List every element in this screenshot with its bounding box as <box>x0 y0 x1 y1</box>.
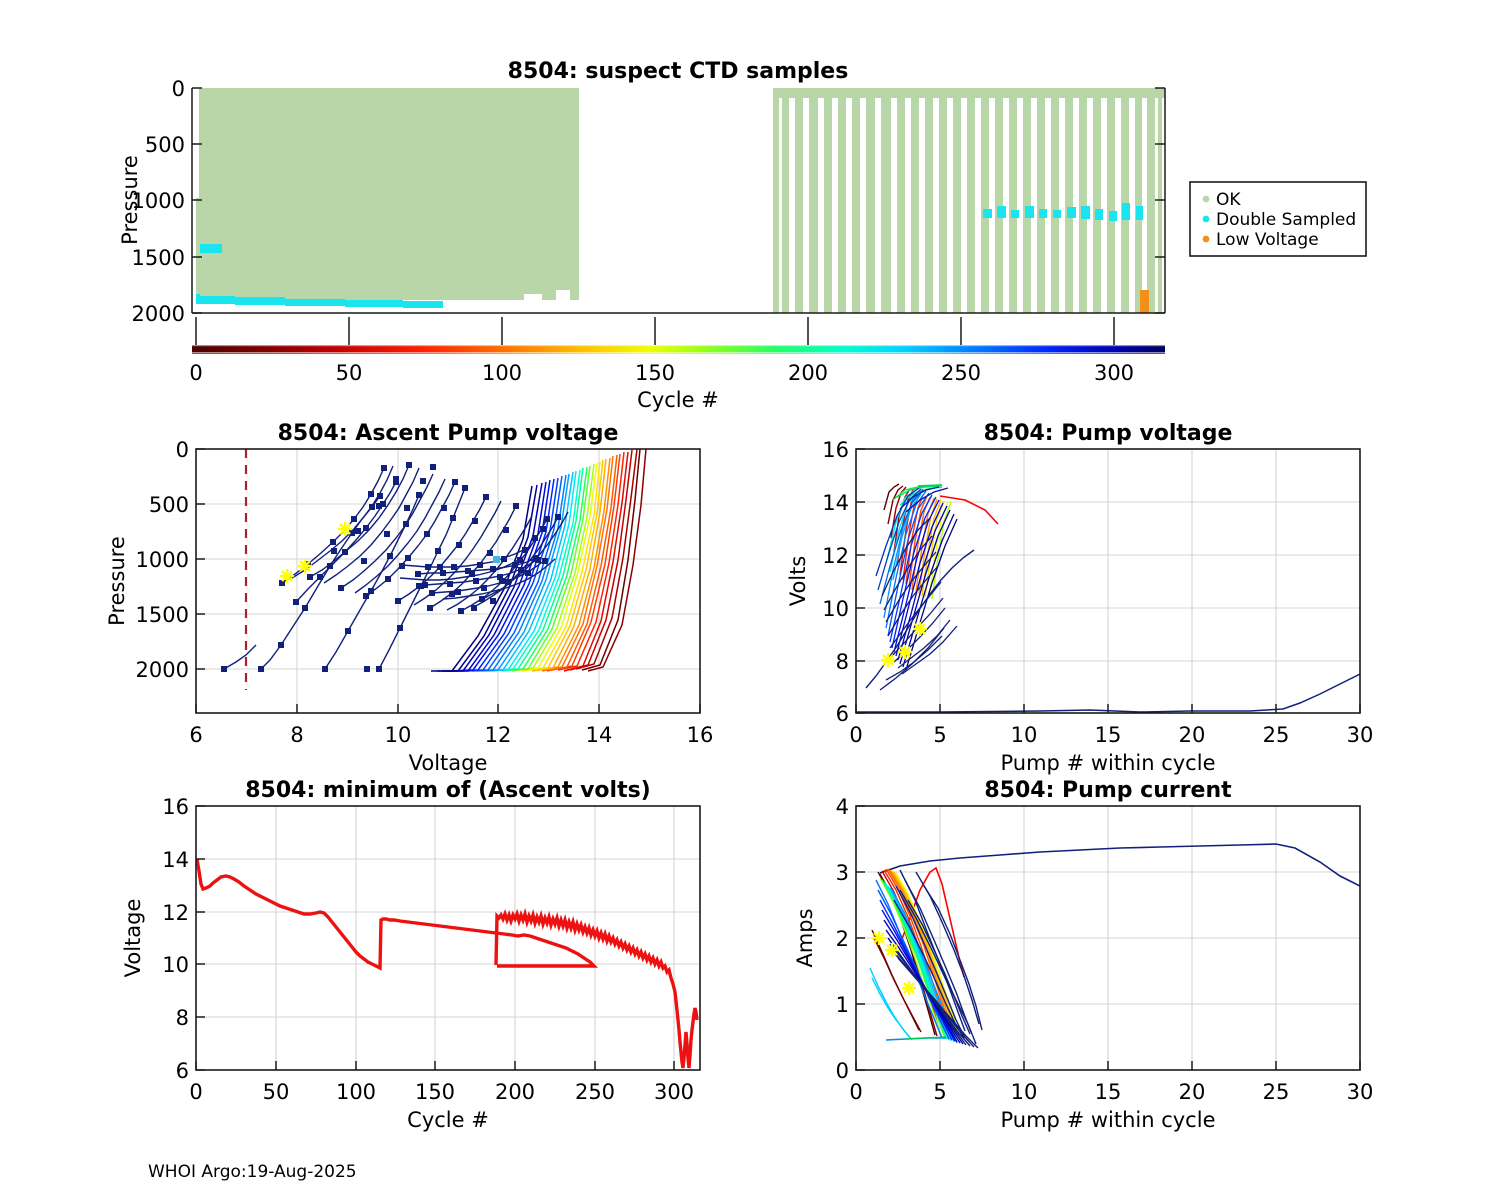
ctd-xtick-0: 0 <box>189 361 202 385</box>
legend-label-double-sampled: Double Sampled <box>1216 210 1356 230</box>
ascent-x-ticks: 6 8 10 12 14 16 <box>189 704 713 747</box>
pumpv-ytick-12: 12 <box>822 544 849 568</box>
pumpc-xtick-5: 5 <box>933 1080 946 1104</box>
footer-credit: WHOI Argo:19-Aug-2025 <box>148 1162 357 1182</box>
legend-swatch-low-voltage <box>1203 236 1210 243</box>
pumpv-star-2 <box>898 645 912 659</box>
ascent-xtick-16: 16 <box>687 723 714 747</box>
minv-xtick-100: 100 <box>336 1080 376 1104</box>
pumpv-xtick-0: 0 <box>849 723 862 747</box>
pumpc-xtick-30: 30 <box>1347 1080 1374 1104</box>
pumpv-ytick-14: 14 <box>822 491 849 515</box>
pumpc-y-axis-label: Amps <box>793 908 817 967</box>
ascent-y-axis-label: Pressure <box>105 536 129 626</box>
ascent-xtick-8: 8 <box>290 723 303 747</box>
pumpc-xtick-10: 10 <box>1011 1080 1038 1104</box>
minv-y-ticks: 6 8 10 12 14 16 <box>162 795 205 1083</box>
pumpc-ytick-2: 2 <box>836 927 849 951</box>
pumpc-panel-title: 8504: Pump current <box>984 778 1232 803</box>
minv-trace-late <box>496 914 697 1068</box>
pumpv-star-3 <box>913 622 927 636</box>
minv-xtick-300: 300 <box>654 1080 694 1104</box>
ctd-ytick-0: 0 <box>172 77 185 101</box>
panel-ascent-pump-voltage: 8504: Ascent Pump voltage <box>105 421 713 775</box>
ascent-xtick-12: 12 <box>485 723 512 747</box>
pumpc-ytick-3: 3 <box>836 861 849 885</box>
pumpc-xtick-0: 0 <box>849 1080 862 1104</box>
pumpc-x-axis-label: Pump # within cycle <box>1001 1108 1216 1132</box>
pumpv-y-axis-label: Volts <box>786 556 810 607</box>
pumpc-ytick-0: 0 <box>836 1059 849 1083</box>
ascent-x-axis-label: Voltage <box>409 751 488 775</box>
ctd-late-profiles <box>773 75 1165 313</box>
pumpv-xtick-25: 25 <box>1263 723 1290 747</box>
minv-xtick-0: 0 <box>189 1080 202 1104</box>
pumpv-xtick-15: 15 <box>1095 723 1122 747</box>
ascent-panel-title: 8504: Ascent Pump voltage <box>278 421 619 446</box>
ascent-xtick-6: 6 <box>189 723 202 747</box>
minv-ytick-10: 10 <box>162 953 189 977</box>
ascent-xtick-14: 14 <box>586 723 613 747</box>
ascent-ytick-0: 0 <box>176 438 189 462</box>
legend-label-low-voltage: Low Voltage <box>1216 230 1319 250</box>
pumpv-ytick-6: 6 <box>836 702 849 726</box>
pumpc-descending-bundle <box>870 869 982 1048</box>
ascent-cyan-point <box>493 556 500 563</box>
panel-pump-current: 8504: Pump current <box>793 778 1373 1132</box>
ctd-xtick-100: 100 <box>482 361 522 385</box>
pumpc-xtick-25: 25 <box>1263 1080 1290 1104</box>
ctd-ytick-2000: 2000 <box>132 302 185 326</box>
ascent-ytick-1000: 1000 <box>136 548 189 572</box>
minv-trace-early <box>197 859 594 968</box>
pumpc-xtick-20: 20 <box>1179 1080 1206 1104</box>
pumpv-ytick-16: 16 <box>822 438 849 462</box>
pumpv-xtick-30: 30 <box>1347 723 1374 747</box>
legend-swatch-ok <box>1203 196 1210 203</box>
ascent-y-ticks: 0 500 1000 1500 2000 <box>136 438 205 682</box>
ctd-x-axis-label: Cycle # <box>637 388 719 412</box>
pumpc-plateau-trace <box>880 844 1360 886</box>
figure-canvas: 8504: suspect CTD samples <box>0 0 1500 1200</box>
ascent-ytick-500: 500 <box>149 493 189 517</box>
legend-label-ok: OK <box>1216 190 1241 210</box>
ctd-xtick-50: 50 <box>336 361 363 385</box>
panel-min-ascent-volts: 8504: minimum of (Ascent volts) 6 <box>121 778 700 1132</box>
pumpv-ytick-10: 10 <box>822 597 849 621</box>
ascent-ytick-2000: 2000 <box>136 658 189 682</box>
ctd-legend[interactable]: OK Double Sampled Low Voltage <box>1190 182 1366 256</box>
ctd-data-area <box>192 75 1165 313</box>
pumpv-panel-title: 8504: Pump voltage <box>984 421 1233 446</box>
pumpv-xtick-20: 20 <box>1179 723 1206 747</box>
ctd-notch-b <box>556 290 570 313</box>
minv-xtick-200: 200 <box>495 1080 535 1104</box>
ctd-ytick-500: 500 <box>145 133 185 157</box>
ctd-xtick-200: 200 <box>788 361 828 385</box>
pumpc-y-ticks: 0 1 2 3 4 <box>836 795 865 1083</box>
pumpv-green-outlier <box>918 485 942 486</box>
panel-suspect-ctd-samples: 8504: suspect CTD samples <box>118 59 1366 412</box>
minv-xtick-150: 150 <box>415 1080 455 1104</box>
minv-ytick-16: 16 <box>162 795 189 819</box>
pumpv-x-axis-label: Pump # within cycle <box>1001 751 1216 775</box>
minv-y-axis-label: Voltage <box>121 899 145 978</box>
pumpc-xtick-15: 15 <box>1095 1080 1122 1104</box>
ctd-low-voltage-marker <box>1140 290 1149 313</box>
ctd-panel-title: 8504: suspect CTD samples <box>508 59 849 84</box>
minv-x-ticks: 0 50 100 150 200 250 300 <box>189 1061 694 1104</box>
panel-pump-voltage: 8504: Pump voltage <box>786 421 1373 775</box>
ctd-ok-block-early-b <box>199 88 579 300</box>
ctd-xtick-300: 300 <box>1094 361 1134 385</box>
minv-xtick-250: 250 <box>575 1080 615 1104</box>
pumpv-xtick-10: 10 <box>1011 723 1038 747</box>
ascent-trace-markers <box>221 462 561 672</box>
pumpv-ytick-8: 8 <box>836 650 849 674</box>
minv-grid <box>196 806 700 1070</box>
pumpc-data-area <box>870 844 1360 1048</box>
minv-x-axis-label: Cycle # <box>407 1108 489 1132</box>
ascent-ytick-1500: 1500 <box>136 603 189 627</box>
ctd-left-edge-gap <box>192 88 199 198</box>
pumpv-xtick-5: 5 <box>933 723 946 747</box>
legend-swatch-double-sampled <box>1203 216 1210 223</box>
pumpc-star-1 <box>872 931 886 945</box>
ctd-notch-c <box>660 292 690 313</box>
ctd-ytick-1500: 1500 <box>132 246 185 270</box>
ctd-xtick-150: 150 <box>635 361 675 385</box>
minv-xtick-50: 50 <box>263 1080 290 1104</box>
pumpc-ytick-4: 4 <box>836 795 849 819</box>
ctd-x-ticks <box>196 317 1114 345</box>
ctd-notch-d <box>700 299 722 313</box>
minv-panel-title: 8504: minimum of (Ascent volts) <box>245 778 651 803</box>
pumpc-star-3 <box>902 981 916 995</box>
pumpv-y-ticks: 6 8 10 12 14 16 <box>822 438 865 726</box>
ctd-notch-a <box>524 294 542 313</box>
pumpv-star-1 <box>881 653 895 667</box>
pumpc-ytick-1: 1 <box>836 993 849 1017</box>
pumpc-x-ticks: 0 5 10 15 20 25 30 <box>849 1061 1373 1104</box>
ascent-star-2 <box>298 559 312 573</box>
minv-ytick-8: 8 <box>176 1006 189 1030</box>
ascent-xtick-10: 10 <box>385 723 412 747</box>
pumpc-star-2 <box>885 943 899 957</box>
ascent-data-area <box>221 449 646 690</box>
minv-ytick-12: 12 <box>162 901 189 925</box>
minv-ytick-14: 14 <box>162 848 189 872</box>
ascent-star-1 <box>280 569 294 583</box>
ctd-y-axis-label: Pressure <box>118 155 142 245</box>
ctd-xtick-250: 250 <box>941 361 981 385</box>
ctd-x-tick-labels: 0 50 100 150 200 250 300 <box>189 361 1134 385</box>
minv-ytick-6: 6 <box>176 1059 189 1083</box>
minv-plot-frame <box>196 806 700 1070</box>
ascent-star-3 <box>338 522 352 536</box>
